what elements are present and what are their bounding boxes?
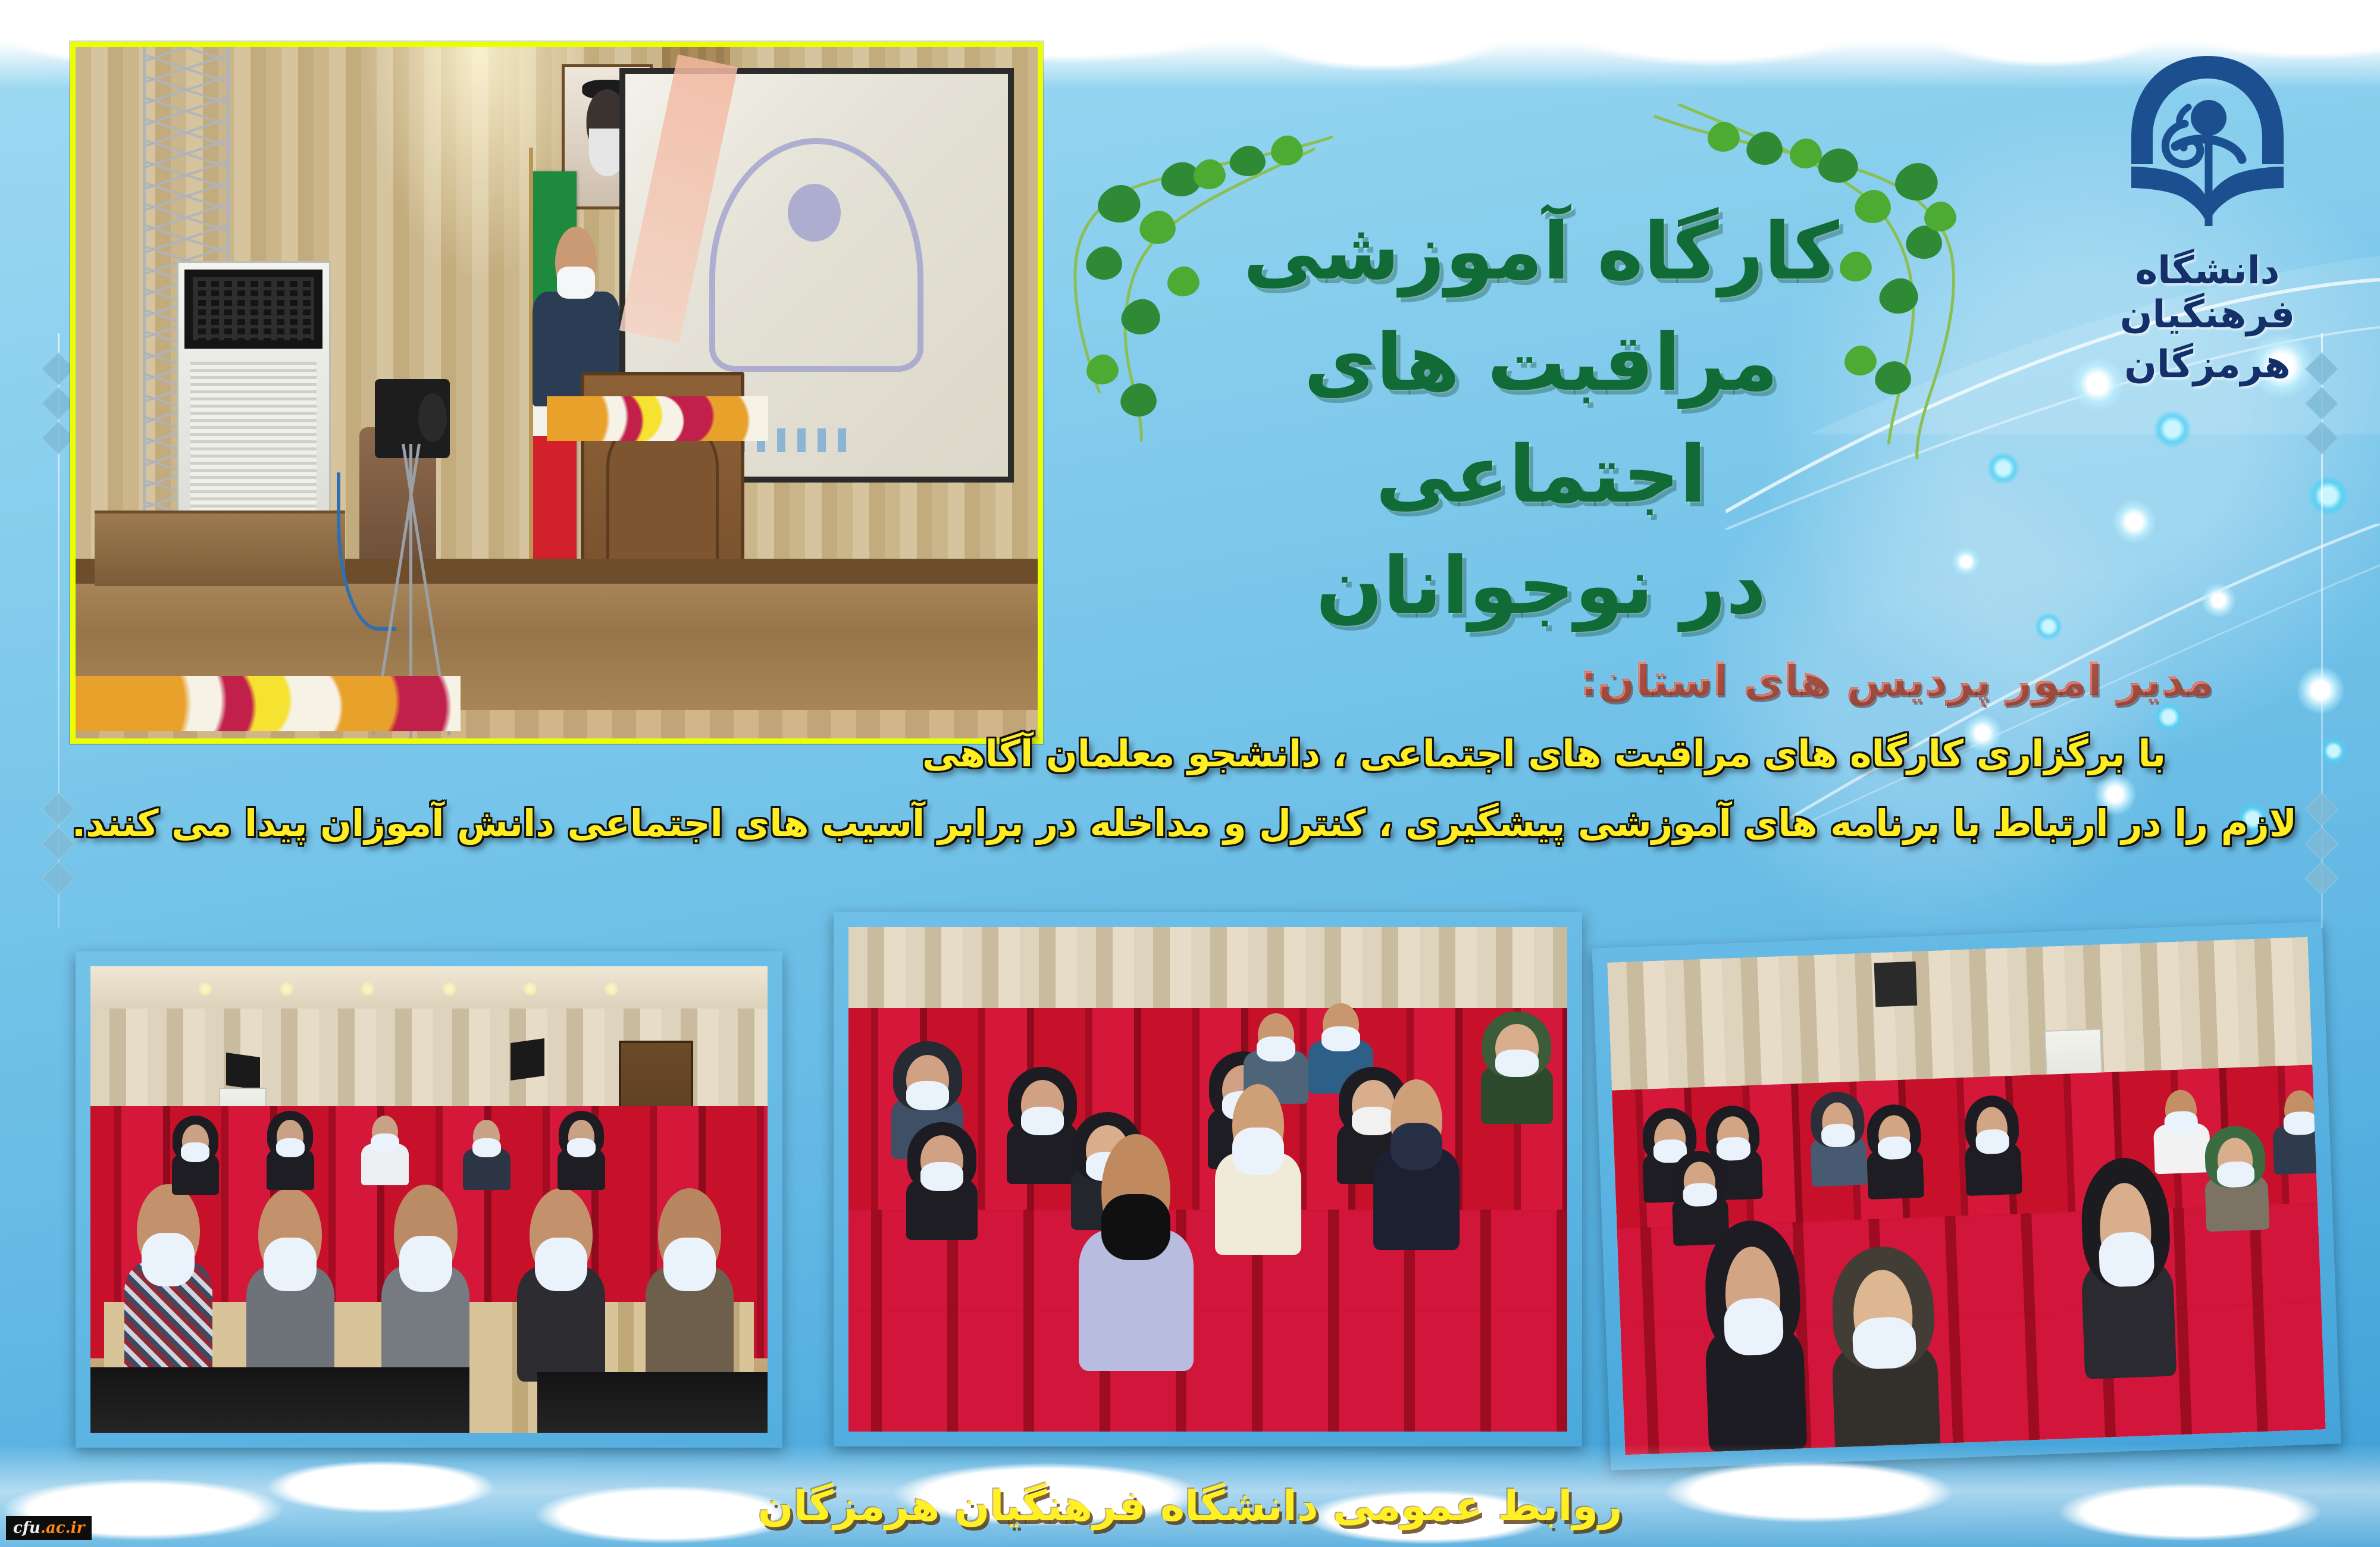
- sparkle: [1987, 452, 2019, 484]
- person: [267, 1116, 314, 1190]
- person: [1481, 1018, 1553, 1124]
- sparkle: [2201, 583, 2236, 618]
- poster-title: کارگاه آموزشی مراقبت های اجتماعی در نوجو…: [1154, 196, 1928, 643]
- person: [361, 1111, 409, 1185]
- person: [1215, 1073, 1301, 1255]
- watermark-part-1: cfu: [13, 1519, 40, 1537]
- statement-heading: مدیر امور پردیس های استان:: [71, 654, 2309, 706]
- wall-speaker: [511, 1038, 544, 1081]
- person: [1373, 1068, 1460, 1249]
- person: [558, 1116, 605, 1190]
- person: [2271, 1084, 2326, 1175]
- wall-speaker: [1874, 961, 1917, 1007]
- title-line-1: کارگاه آموزشی: [1154, 196, 1928, 308]
- audience-students-photo[interactable]: [833, 912, 1583, 1447]
- logo-line-2: هرمزگان: [2071, 343, 2344, 387]
- sparkle: [2320, 738, 2347, 764]
- statement-line-1: با برگزاری کارگاه های مراقبت های اجتماعی…: [71, 732, 2309, 775]
- person: [172, 1120, 220, 1195]
- person: [1007, 1073, 1079, 1185]
- watermark-part-2: .ac.ir: [40, 1519, 84, 1537]
- person: [1079, 1119, 1194, 1371]
- logo-line-1: دانشگاه فرهنگیان: [2071, 249, 2344, 337]
- hall-ceiling: [90, 966, 768, 1009]
- statement-block: مدیر امور پردیس های استان: با برگزاری کا…: [71, 654, 2309, 845]
- person: [1963, 1100, 2022, 1196]
- monitor-table: [537, 1372, 768, 1433]
- person: [1701, 1232, 1807, 1452]
- sparkle: [1952, 547, 1980, 576]
- sparkle: [2112, 500, 2156, 544]
- person: [463, 1116, 511, 1190]
- diamond-rail-left: [46, 333, 70, 928]
- person: [381, 1172, 469, 1386]
- poster-canvas: دانشگاه فرهنگیان هرمزگان کارگاه آموزشی م…: [0, 0, 2380, 1547]
- person: [246, 1176, 334, 1382]
- person: [517, 1176, 605, 1382]
- sparkle: [2035, 613, 2062, 640]
- monitor-table: [90, 1367, 469, 1433]
- person: [1828, 1256, 1941, 1455]
- person: [1671, 1155, 1730, 1246]
- person: [1865, 1109, 1925, 1200]
- podium-flowers: [547, 396, 768, 441]
- sparkle: [2309, 476, 2348, 515]
- person: [906, 1129, 978, 1240]
- person: [124, 1172, 212, 1377]
- person: [1809, 1096, 1868, 1186]
- diamond-rail-right: [2310, 333, 2334, 928]
- stage-step: [95, 511, 345, 587]
- cfu-emblem-icon: [2118, 48, 2297, 238]
- title-line-3: در نوجوانان: [1154, 531, 1928, 642]
- university-logo-block: دانشگاه فرهنگیان هرمزگان: [2071, 48, 2344, 387]
- wall-speaker: [226, 1053, 260, 1090]
- person: [2078, 1169, 2177, 1379]
- sparkle: [2154, 411, 2191, 447]
- audience-officials-photo[interactable]: [75, 951, 783, 1448]
- seat-row: [848, 1310, 1567, 1432]
- hero-lecture-photo[interactable]: [70, 42, 1043, 744]
- title-line-2: مراقبت های اجتماعی: [1154, 308, 1928, 531]
- footer-banner: روابط عمومی دانشگاه فرهنگیان هرمزگان: [0, 1482, 2380, 1530]
- audience-women-photo[interactable]: [1591, 921, 2341, 1471]
- site-watermark: cfu.ac.ir: [6, 1516, 92, 1540]
- person: [646, 1176, 734, 1382]
- footer-banner-text: روابط عمومی دانشگاه فرهنگیان هرمزگان: [758, 1482, 1623, 1530]
- person: [2203, 1130, 2269, 1231]
- statement-line-2: لازم را در ارتباط با برنامه های آموزشی پ…: [71, 801, 2309, 845]
